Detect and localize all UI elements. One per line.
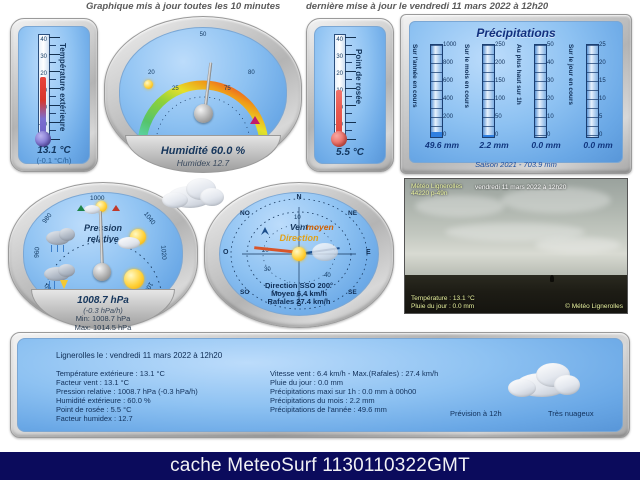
dew-tick-1: 30 [321, 54, 343, 60]
temp-tick-1: 30 [25, 54, 47, 60]
dewpoint-mercury [336, 90, 342, 135]
precipitation-season-note: Saison 2021 - 703.9 mm [410, 160, 622, 169]
summary-right-line-3: Précipitations du mois : 2.2 mm [270, 396, 375, 405]
pressure-hub [93, 263, 111, 281]
precip-fill-year [431, 132, 442, 137]
webcam-rain-overlay: Pluie du jour : 0.0 mm [411, 303, 474, 311]
wind-gauge-face: N S O E NO NE SO SE 10 20 30 40 Vent moy… [219, 192, 379, 316]
wind-hub-icon [292, 247, 306, 261]
summary-right-line-4: Précipitations de l'année : 49.6 mm [270, 405, 387, 414]
wind-ring-label-30: 30 [264, 267, 271, 273]
precip-month-label: Sur le mois en cours [463, 44, 470, 108]
summary-left-line-0: Température extérieure : 13.1 °C [56, 369, 165, 378]
summary-right-line-1: Pluie du jour : 0.0 mm [270, 378, 343, 387]
forecast-label: Prévision à 12h [450, 409, 502, 418]
precip-month-tick-1: 200 [495, 60, 505, 66]
precip-year-tick-4: 200 [443, 114, 453, 120]
status-bar: cache MeteoSurf 1130110322GMT [0, 452, 640, 480]
humidity-max-marker-icon [250, 116, 260, 124]
summary-right-line-2: Précipitations maxi sur 1h : 0.0 mm à 00… [270, 387, 416, 396]
dewpoint-gauge-face: 40 30 20 10 0 -10 -20 Point de rosée 5.5… [314, 26, 386, 164]
summary-right-line-0: Vitesse vent : 6.4 km/h - Max.(Rafales) … [270, 369, 438, 378]
precipitation-panel[interactable]: Précipitations 1000 800 600 400 200 0 [400, 14, 632, 174]
humidity-tick-low: 20 [148, 70, 155, 76]
precip-hour-tick-5: 0 [547, 132, 550, 138]
precip-column-hour: 50 40 30 20 10 0 Au plus haut sur 1h 0.0… [520, 44, 568, 154]
temperature-gauge-face: 40 30 20 10 0 -10 -20 Température extéri… [18, 26, 90, 164]
precip-day-tick-1: 20 [599, 60, 606, 66]
compass-o: O [223, 249, 228, 256]
precip-day-tick-5: 0 [599, 132, 602, 138]
pressure-caption-line2: relative [24, 234, 182, 244]
summary-panel[interactable]: Lignerolles le : vendredi 11 mars 2022 à… [10, 332, 630, 438]
dew-tick-0: 40 [321, 37, 343, 43]
precip-year-tick-5: 0 [443, 132, 446, 138]
precip-tube-month [482, 44, 495, 138]
webcam-tree-icon [550, 275, 554, 282]
summary-left-line-3: Humidité extérieure : 60.0 % [56, 396, 151, 405]
weather-dashboard: Graphique mis à jour toutes les 10 minut… [0, 0, 640, 480]
pressure-tick-1040: 1020 [159, 245, 167, 260]
temperature-gauge[interactable]: 40 30 20 10 0 -10 -20 Température extéri… [10, 18, 98, 172]
webcam-station-overlay2: 44220 p-49n [411, 190, 448, 198]
forecast-value: Très nuageux [548, 409, 594, 418]
precip-month-value: 2.2 mm [466, 140, 522, 150]
header-right-caption: dernière mise à jour le vendredi 11 mars… [306, 0, 548, 13]
pressure-tick-960: 960 [34, 247, 42, 258]
precip-column-year: 1000 800 600 400 200 0 Sur l'année en co… [416, 44, 464, 154]
precip-year-tick-3: 400 [443, 96, 453, 102]
humidity-tick-top: 50 [120, 32, 286, 38]
precip-fill-month [483, 135, 494, 137]
wind-cloud-icon [312, 243, 338, 261]
summary-left-line-2: Pression relative : 1008.7 hPa (-0.3 hPa… [56, 387, 198, 396]
precip-hour-tick-2: 30 [547, 78, 554, 84]
compass-no: NO [240, 210, 250, 217]
humidity-humidex: Humidex 12.7 [105, 158, 301, 168]
humidity-tick-high: 80 [248, 70, 255, 76]
precipitation-title: Précipitations [410, 26, 622, 40]
webcam-temp-overlay: Température : 13.1 °C [411, 295, 475, 303]
precip-hour-tick-0: 50 [547, 42, 554, 48]
dewpoint-bulb [331, 131, 347, 147]
dewpoint-value: 5.5 °C [315, 147, 385, 158]
humidity-caption: Humidité 60.0 % [105, 145, 301, 157]
temperature-mercury [40, 77, 46, 135]
precip-tube-hour [534, 44, 547, 138]
precip-hour-tick-1: 40 [547, 60, 554, 66]
webcam-copyright: © Météo Lignerolles [565, 303, 623, 311]
temp-tick-0: 40 [25, 37, 47, 43]
temperature-value: 13.1 °C [19, 145, 89, 156]
precip-tube-year [430, 44, 443, 138]
precip-day-tick-3: 10 [599, 96, 606, 102]
dew-tick-2: 20 [321, 71, 343, 77]
precip-hour-tick-3: 20 [547, 96, 554, 102]
precip-month-tick-2: 150 [495, 78, 505, 84]
wind-ring-label-10: 10 [294, 215, 301, 221]
summary-left-line-1: Facteur vent : 13.1 °C [56, 378, 129, 387]
humidity-inner-tick-high: 75 [224, 86, 231, 92]
compass-n: N [220, 194, 378, 201]
summary-face: Lignerolles le : vendredi 11 mars 2022 à… [17, 338, 623, 432]
summary-left-line-5: Facteur humidex : 12.7 [56, 414, 133, 423]
precip-day-value: 0.0 mm [570, 140, 626, 150]
precip-year-tick-1: 800 [443, 60, 453, 66]
compass-ne: NE [348, 210, 357, 217]
humidity-inner-tick-low: 25 [172, 86, 179, 92]
wind-gauge[interactable]: N S O E NO NE SO SE 10 20 30 40 Vent moy… [204, 182, 394, 328]
summary-title: Lignerolles le : vendredi 11 mars 2022 à… [56, 351, 222, 360]
humidity-gauge[interactable]: 50 0 100 20 80 25 75 Humidité 60.0 % Hum… [104, 16, 302, 170]
dewpoint-gauge-label: Point de rosée [354, 49, 363, 104]
precip-column-month: 250 200 150 100 50 0 Sur le mois en cour… [468, 44, 516, 154]
precip-column-day: 25 20 15 10 5 0 Sur le jour en cours 0.0… [572, 44, 620, 154]
pressure-caption-line1: Pression [24, 223, 182, 233]
precip-hour-label: Au plus haut sur 1h [515, 44, 522, 105]
precip-year-value: 49.6 mm [414, 140, 470, 150]
precip-hour-tick-4: 10 [547, 114, 554, 120]
dewpoint-gauge[interactable]: 40 30 20 10 0 -10 -20 Point de rosée 5.5… [306, 18, 394, 172]
precip-day-tick-2: 15 [599, 78, 606, 84]
precip-day-tick-4: 5 [599, 114, 602, 120]
pressure-min: Min: 1008.7 hPa [9, 314, 197, 323]
precipitation-face: Précipitations 1000 800 600 400 200 0 [409, 21, 623, 163]
webcam-timestamp: vendredi 11 mars 2022 à 12h20 [475, 184, 566, 192]
header-left-caption: Graphique mis à jour toutes les 10 minut… [86, 0, 280, 13]
summary-left-line-4: Point de rosée : 5.5 °C [56, 405, 132, 414]
pressure-min-marker-icon [77, 205, 85, 211]
precip-hour-value: 0.0 mm [518, 140, 574, 150]
humidity-min-marker-icon [144, 80, 153, 89]
precip-day-label: Sur le jour en cours [567, 44, 574, 105]
precip-day-tick-0: 25 [599, 42, 606, 48]
wind-caption-line3: Direction [220, 233, 378, 243]
precip-year-tick-2: 600 [443, 78, 453, 84]
compass-e: E [366, 249, 371, 256]
webcam-panel[interactable]: Météo Lignerolles 44220 p-49n vendredi 1… [404, 178, 628, 314]
precip-year-tick-0: 1000 [443, 42, 456, 48]
precip-year-label: Sur l'année en cours [411, 44, 418, 108]
precip-month-tick-5: 0 [495, 132, 498, 138]
precip-month-tick-3: 100 [495, 96, 505, 102]
humidity-hub [194, 104, 213, 123]
precip-month-tick-4: 50 [495, 114, 502, 120]
precip-tube-day [586, 44, 599, 138]
pressure-value: 1008.7 hPa [9, 295, 197, 306]
pressure-max: Max: 1014.5 hPa [9, 323, 197, 332]
forecast-cloud-icon [506, 357, 586, 401]
temperature-trend: (-0.1 °C/h) [19, 156, 89, 165]
precip-month-tick-0: 250 [495, 42, 505, 48]
pressure-max-marker-icon [112, 205, 120, 211]
wind-caption-line2: moyen [262, 222, 378, 232]
status-bar-text: cache MeteoSurf 1130110322GMT [0, 452, 640, 480]
wind-gust-text: Rafales 27.4 km/h [220, 297, 378, 306]
temperature-gauge-label: Température extérieure [58, 43, 67, 131]
wind-ring-label-40: 40 [324, 273, 331, 279]
